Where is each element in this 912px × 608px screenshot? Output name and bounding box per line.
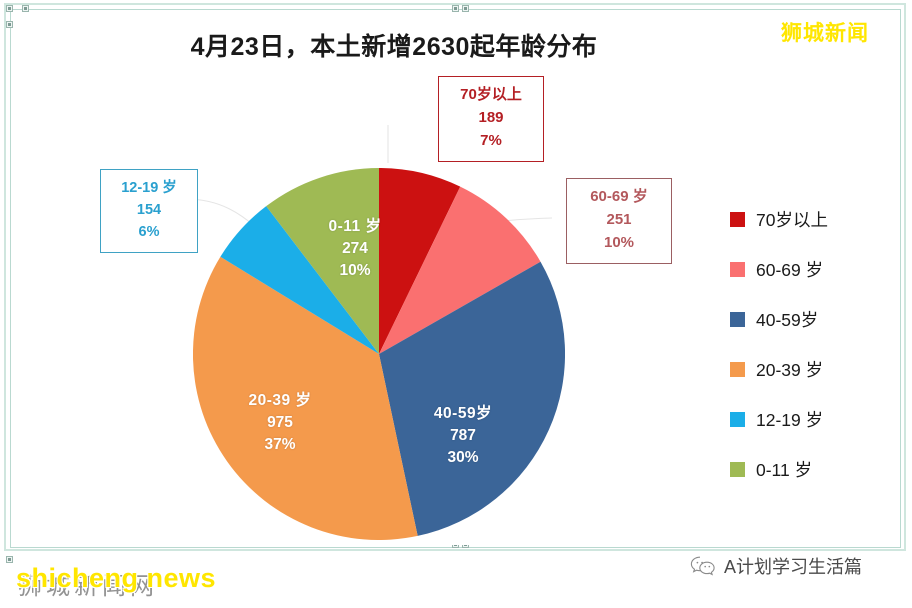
resize-handle-top-center[interactable] xyxy=(452,5,459,12)
legend-swatch-12-19 xyxy=(730,412,745,427)
callout-60-69-value: 251 xyxy=(577,209,661,232)
legend-item-40-59[interactable]: 40-59岁 xyxy=(730,294,890,344)
resize-handle-bottom-left[interactable] xyxy=(6,556,13,563)
callout-12-19-percent: 6% xyxy=(111,221,187,243)
callout-60-69[interactable]: 60-69 岁 251 10% xyxy=(566,178,672,264)
legend-label-40-59: 40-59岁 xyxy=(756,307,818,332)
pie-chart: 40-59岁 787 30% 20-39 岁 975 37% 0-11 岁 27… xyxy=(193,168,565,540)
callout-70-plus-label: 70岁以上 xyxy=(449,84,533,107)
legend-item-0-11[interactable]: 0-11 岁 xyxy=(730,444,890,494)
legend-item-60-69[interactable]: 60-69 岁 xyxy=(730,244,890,294)
resize-handle-top-left-2[interactable] xyxy=(22,5,29,12)
legend-label-20-39: 20-39 岁 xyxy=(756,357,823,382)
legend-swatch-40-59 xyxy=(730,312,745,327)
callout-12-19-value: 154 xyxy=(111,199,187,221)
resize-handle-top-center-2[interactable] xyxy=(462,5,469,12)
wechat-icon xyxy=(690,555,716,577)
slide-root: 4月23日，本土新增2630起年龄分布 xyxy=(0,0,912,608)
resize-handle-left-top[interactable] xyxy=(6,21,13,28)
legend-item-12-19[interactable]: 12-19 岁 xyxy=(730,394,890,444)
footer-account[interactable]: A计划学习生活篇 xyxy=(690,553,862,579)
resize-handle-top-left[interactable] xyxy=(6,5,13,12)
legend-label-0-11: 0-11 岁 xyxy=(756,457,812,482)
callout-60-69-percent: 10% xyxy=(577,232,661,255)
legend-item-20-39[interactable]: 20-39 岁 xyxy=(730,344,890,394)
legend-label-12-19: 12-19 岁 xyxy=(756,407,823,432)
callout-70-plus-percent: 7% xyxy=(449,130,533,153)
legend-swatch-20-39 xyxy=(730,362,745,377)
page-title: 4月23日，本土新增2630起年龄分布 xyxy=(14,27,774,63)
pie-svg xyxy=(193,168,565,540)
chart-card: 4月23日，本土新增2630起年龄分布 xyxy=(14,13,898,545)
watermark-bottom-left: shicheng news xyxy=(16,563,216,594)
footer-account-name: A计划学习生活篇 xyxy=(724,553,862,579)
legend-swatch-0-11 xyxy=(730,462,745,477)
callout-60-69-label: 60-69 岁 xyxy=(577,186,661,209)
legend-swatch-70-plus xyxy=(730,212,745,227)
callout-70-plus-value: 189 xyxy=(449,107,533,130)
watermark-top-right: 狮城新闻 xyxy=(781,17,869,47)
legend-label-70-plus: 70岁以上 xyxy=(756,207,828,232)
callout-12-19-label: 12-19 岁 xyxy=(111,177,187,199)
chart-legend: 70岁以上 60-69 岁 40-59岁 20-39 岁 12-19 岁 0-1… xyxy=(730,194,890,494)
callout-70-plus[interactable]: 70岁以上 189 7% xyxy=(438,76,544,162)
callout-12-19[interactable]: 12-19 岁 154 6% xyxy=(100,169,198,253)
legend-item-70-plus[interactable]: 70岁以上 xyxy=(730,194,890,244)
legend-label-60-69: 60-69 岁 xyxy=(756,257,823,282)
legend-swatch-60-69 xyxy=(730,262,745,277)
